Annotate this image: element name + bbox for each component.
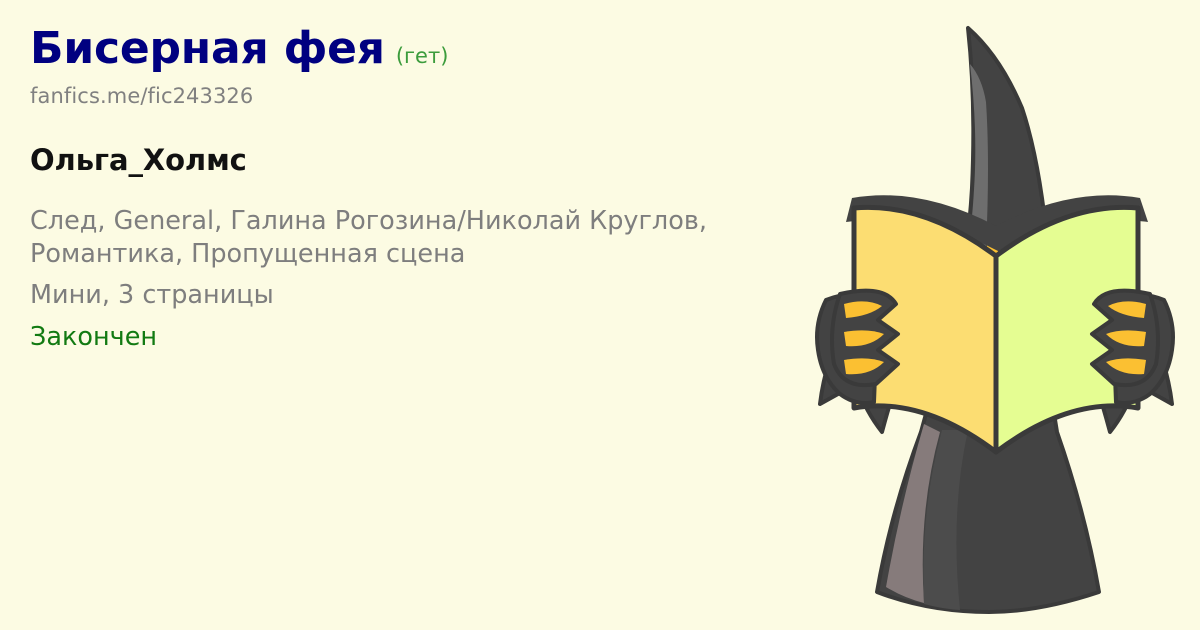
rating-badge: (гет) [396, 45, 449, 67]
size-line: Мини, 3 страницы [30, 279, 770, 312]
metadata-block: След, General, Галина Рогозина/Николай К… [30, 205, 770, 354]
title-row: Бисерная фея (гет) [30, 26, 770, 72]
author-name[interactable]: Ольга_Холмс [30, 143, 770, 177]
witch-illustration-svg [800, 12, 1190, 622]
text-column: Бисерная фея (гет) fanfics.me/fic243326 … [30, 26, 770, 354]
open-book-group [846, 195, 1148, 452]
fic-url[interactable]: fanfics.me/fic243326 [30, 84, 770, 108]
page-title: Бисерная фея [30, 26, 385, 72]
tags-line: След, General, Галина Рогозина/Николай К… [30, 205, 710, 270]
fic-preview-card: Бисерная фея (гет) fanfics.me/fic243326 … [0, 0, 1200, 630]
status-badge: Закончен [30, 321, 770, 354]
witch-reading-book-illustration [800, 12, 1190, 622]
